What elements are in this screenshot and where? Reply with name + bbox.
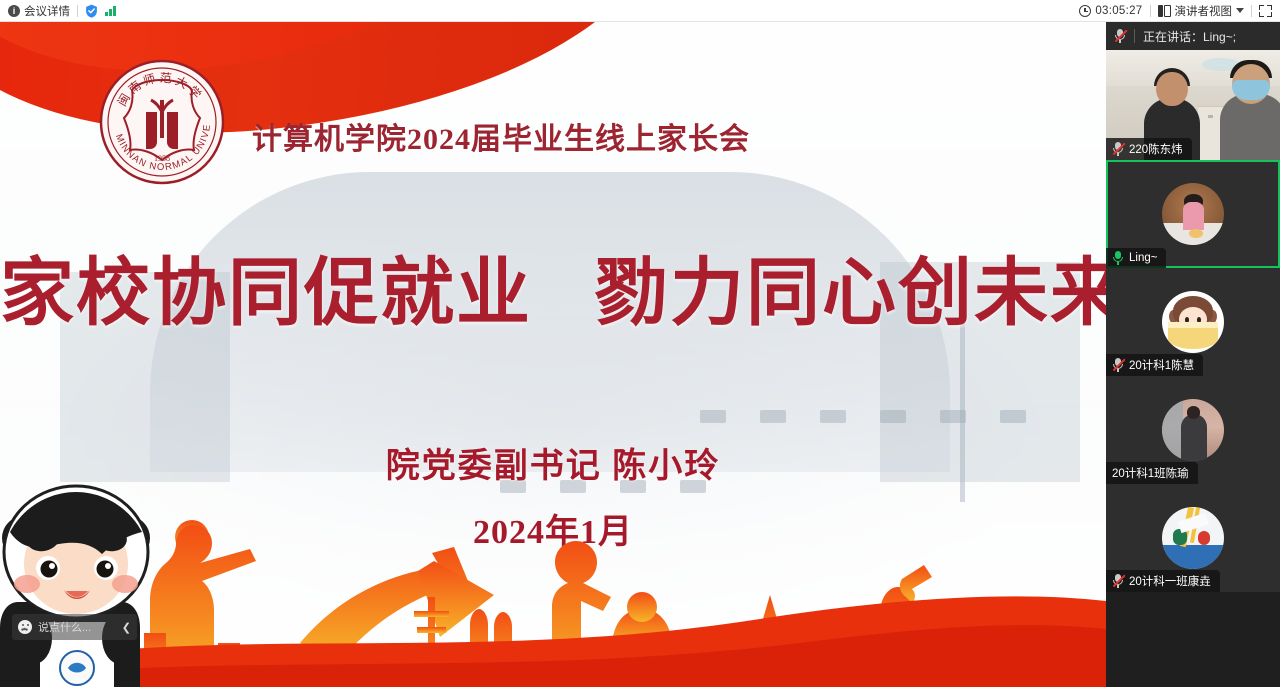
participant-tile[interactable]: 20计科1陈慧 [1106, 268, 1280, 376]
meeting-top-bar: i 会议详情 03:05:27 演讲者视图 [0, 0, 1280, 22]
participant-name: 20计科一班康垚 [1129, 573, 1211, 589]
chevron-down-icon [1236, 8, 1244, 13]
mic-muted-icon [1112, 142, 1124, 156]
participant-tile[interactable]: 20计科一班康垚 [1106, 484, 1280, 592]
slide-title-right: 勠力同心创未来 [594, 253, 1106, 335]
slide-main-title: 家校协同促就业勠力同心创未来 [0, 254, 1106, 335]
elapsed-time: 03:05:27 [1095, 5, 1142, 17]
meeting-info-label: 会议详情 [24, 3, 70, 19]
participant-name-badge: 220陈东炜 [1106, 138, 1192, 160]
participant-tile[interactable]: 20计科1班陈瑜 [1106, 376, 1280, 484]
background-windows [700, 410, 1026, 423]
mic-muted-icon [1112, 574, 1124, 588]
layout-icon [1158, 5, 1171, 17]
red-wave-bottom [0, 567, 1106, 687]
fullscreen-icon[interactable] [1259, 5, 1272, 17]
smiley-icon[interactable] [18, 620, 32, 634]
avatar [1162, 399, 1224, 461]
participant-name-badge: 20计科1陈慧 [1106, 354, 1203, 376]
participant-name-badge: 20计科一班康垚 [1106, 570, 1220, 592]
shared-screen-stage[interactable]: 1958 闽 南 师 范 大 学 MINNAN NORMAL UNIVERSIT… [0, 22, 1106, 687]
mic-muted-icon [1112, 358, 1124, 372]
participant-name-badge: Ling~ [1106, 248, 1166, 268]
avatar [1162, 291, 1224, 353]
slide-title-left: 家校协同促就业 [0, 253, 532, 335]
mic-muted-icon [1114, 29, 1126, 43]
participant-name: 20计科1陈慧 [1129, 357, 1194, 373]
shield-icon[interactable] [85, 4, 98, 18]
slide-header-text: 计算机学院2024届毕业生线上家长会 [252, 114, 750, 158]
panda-mascot [0, 472, 159, 687]
active-speaker-banner: 正在讲话：Ling~; [1106, 22, 1280, 50]
signal-bars-icon[interactable] [105, 5, 116, 16]
participant-name: 20计科1班陈瑜 [1112, 465, 1189, 481]
clock-icon [1079, 5, 1091, 17]
chat-input-placeholder[interactable]: 说点什么... [38, 619, 116, 635]
participant-name-badge: 20计科1班陈瑜 [1106, 462, 1198, 484]
active-speaker-label: 正在讲话：Ling~; [1143, 28, 1236, 45]
participant-name: Ling~ [1129, 252, 1157, 264]
divider [77, 5, 78, 17]
participant-rail: 正在讲话：Ling~; 220陈东炜 Ling~ [1106, 22, 1280, 687]
divider [1150, 5, 1151, 17]
meeting-timer: 03:05:27 [1079, 5, 1142, 17]
participant-tile[interactable]: 220陈东炜 [1106, 50, 1280, 160]
meeting-info-button[interactable]: i 会议详情 [8, 3, 70, 19]
chat-input-bar[interactable]: 说点什么... ❮ [12, 614, 137, 640]
mic-on-icon [1112, 251, 1124, 265]
chevron-left-icon[interactable]: ❮ [122, 621, 131, 634]
info-icon: i [8, 5, 20, 17]
divider [1251, 5, 1252, 17]
university-logo: 1958 闽 南 师 范 大 学 MINNAN NORMAL UNIVERSIT… [98, 58, 226, 186]
view-mode-dropdown[interactable]: 演讲者视图 [1158, 3, 1245, 19]
view-mode-label: 演讲者视图 [1175, 3, 1233, 19]
avatar [1162, 507, 1224, 569]
participant-name: 220陈东炜 [1129, 141, 1183, 157]
participant-tile-active[interactable]: Ling~ [1106, 160, 1280, 268]
divider [1134, 29, 1135, 43]
avatar [1162, 183, 1224, 245]
